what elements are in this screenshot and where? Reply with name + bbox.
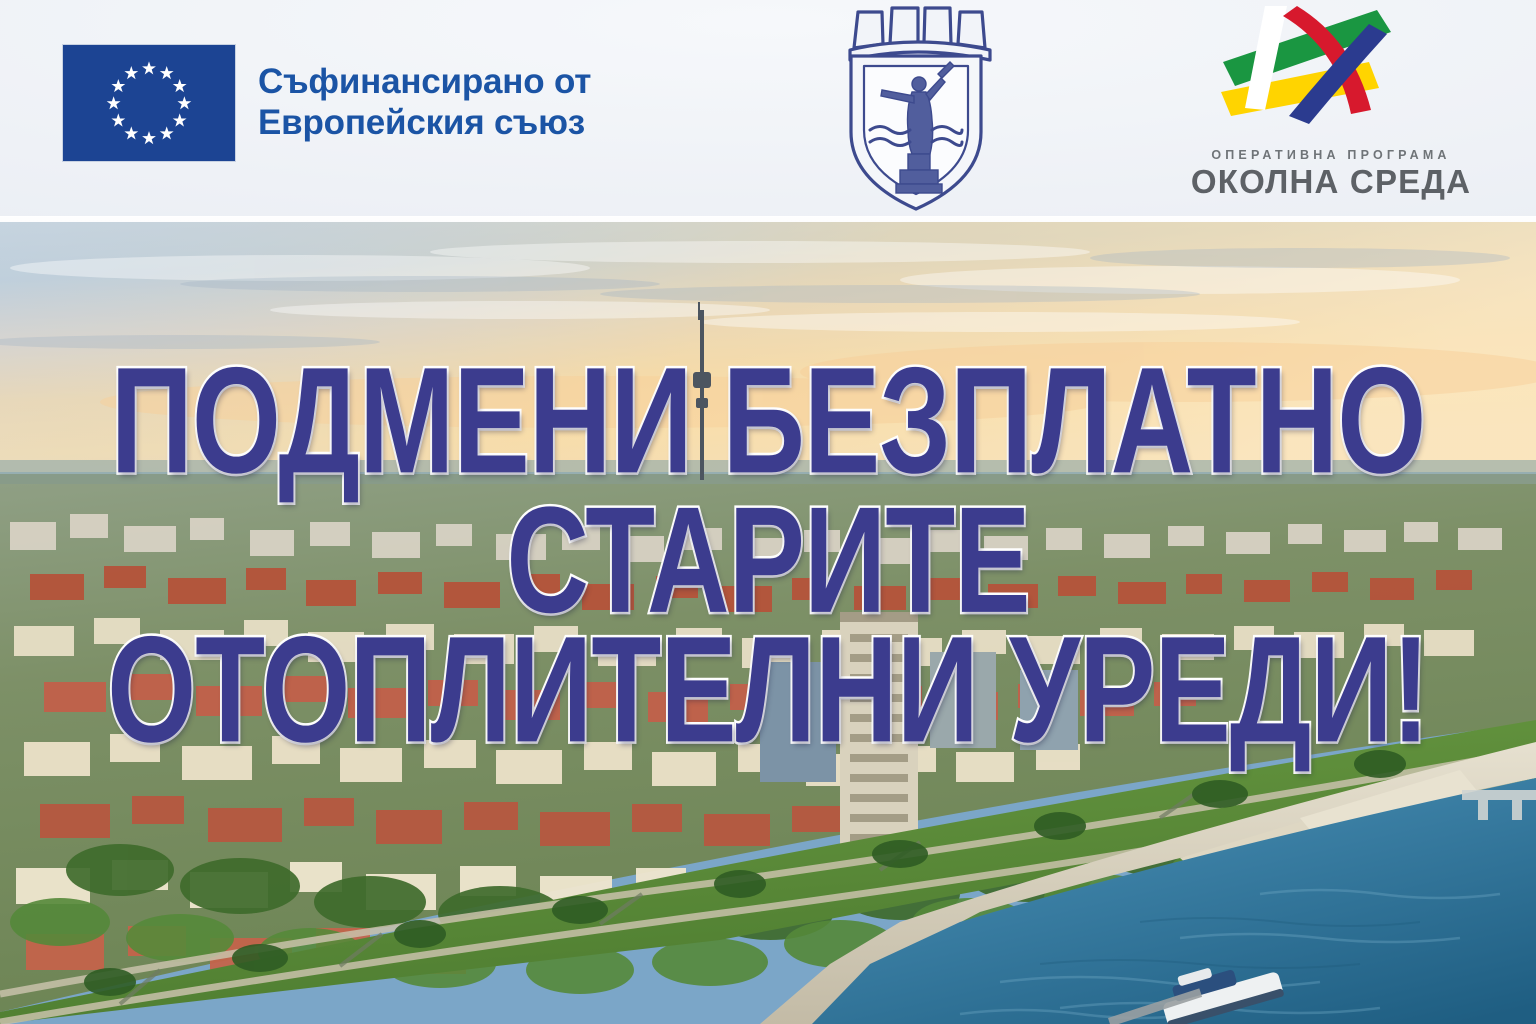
op-subtitle: ОПЕРАТИВНА ПРОГРАМА (1211, 148, 1450, 162)
funding-header-band: Съфинансирано от Европейския съюз (0, 0, 1536, 222)
op-title: ОКОЛНА СРЕДА (1191, 165, 1471, 198)
ruse-coat-of-arms-icon (838, 4, 994, 216)
campaign-banner: Съфинансирано от Европейския съюз (0, 0, 1536, 1024)
eu-funding-label: Съфинансирано от Европейския съюз (258, 62, 591, 144)
aerial-cityscape-photo (0, 222, 1536, 1024)
op-environment-logo: ОПЕРАТИВНА ПРОГРАМА ОКОЛНА СРЕДА (1186, 4, 1476, 212)
eu-funding-line-1: Съфинансирано от (258, 62, 591, 103)
eu-funding-line-2: Европейския съюз (258, 103, 591, 144)
eu-flag-icon (62, 44, 236, 162)
eu-emblem: Съфинансирано от Европейския съюз (62, 44, 591, 162)
op-environment-logo-icon (1201, 4, 1461, 152)
